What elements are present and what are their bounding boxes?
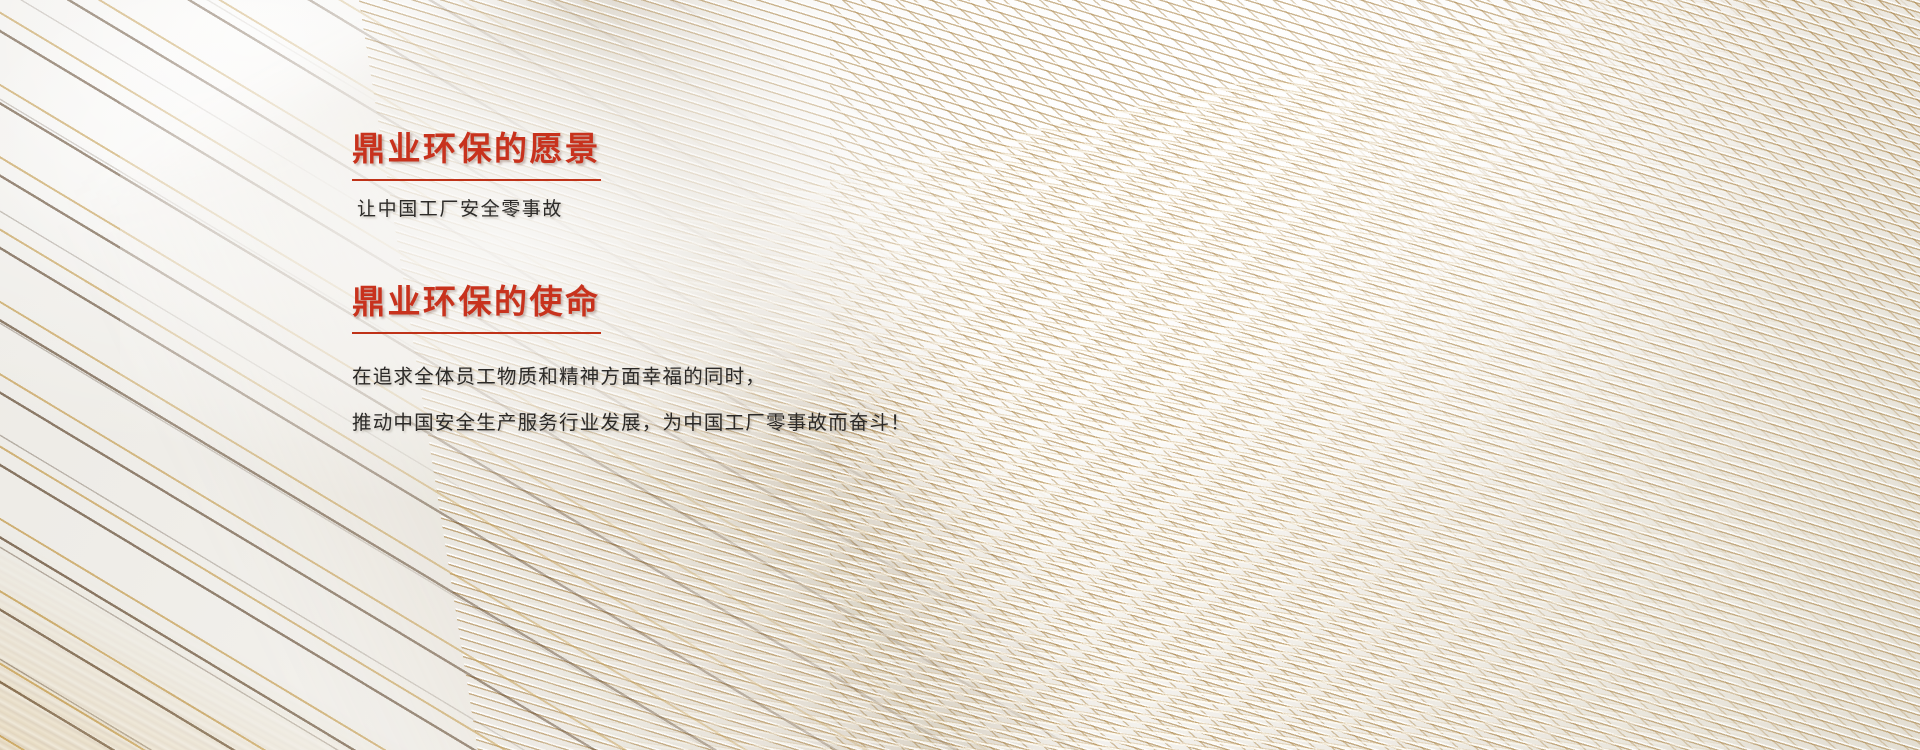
banner-text-content: 鼎业环保的愿景 让中国工厂安全零事故 鼎业环保的使命 在追求全体员工物质和精神方… xyxy=(352,128,1112,438)
mission-line-2: 推动中国安全生产服务行业发展，为中国工厂零事故而奋斗！ xyxy=(352,408,1112,438)
vision-subtitle: 让中国工厂安全零事故 xyxy=(357,196,1112,225)
gold-blade-bottom-left-decoration xyxy=(0,440,600,750)
vision-heading: 鼎业环保的愿景 xyxy=(352,128,601,181)
gold-hatch-corner-decoration xyxy=(1340,0,1920,600)
mission-line-1: 在追求全体员工物质和精神方面幸福的同时， xyxy=(352,362,1112,392)
mission-block: 鼎业环保的使命 在追求全体员工物质和精神方面幸福的同时， 推动中国安全生产服务行… xyxy=(352,281,1112,439)
mission-heading: 鼎业环保的使命 xyxy=(352,281,601,334)
vision-block: 鼎业环保的愿景 让中国工厂安全零事故 xyxy=(352,128,1112,225)
brand-banner: 鼎业环保的愿景 让中国工厂安全零事故 鼎业环保的使命 在追求全体员工物质和精神方… xyxy=(0,0,1920,750)
